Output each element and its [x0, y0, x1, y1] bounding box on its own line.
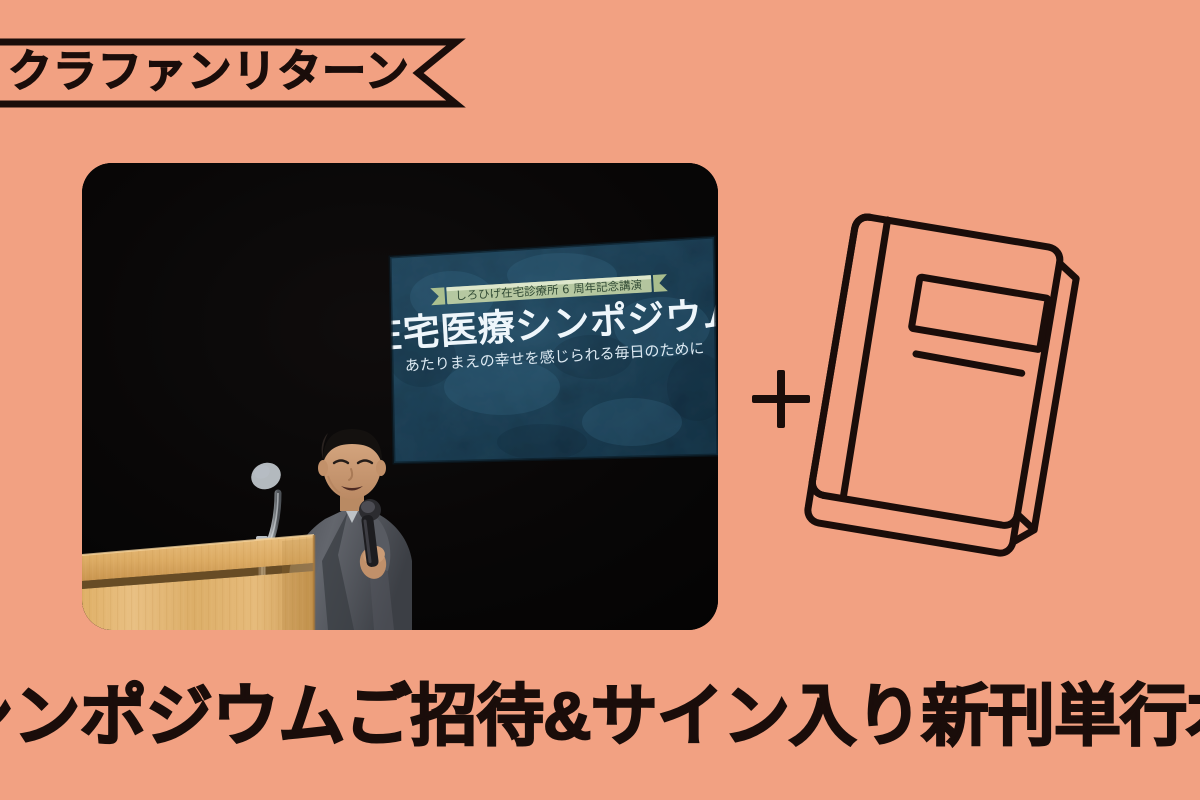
- book-icon: [800, 190, 1100, 590]
- headline-text: シンポジウムご招待&サイン入り新刊単行本: [0, 660, 1200, 760]
- ribbon-banner: クラファンリターン: [0, 38, 468, 108]
- ribbon-banner-label: クラファンリターン: [8, 38, 410, 108]
- projection-screen: しろひげ在宅診療所 6 周年記念講演 在宅医療シンポジウム あたりまえの幸せを感…: [363, 237, 718, 463]
- book-icon-shape: [800, 190, 1100, 590]
- symposium-photo-scene: しろひげ在宅診療所 6 周年記念講演 在宅医療シンポジウム あたりまえの幸せを感…: [82, 163, 718, 630]
- plus-icon-vertical-bar: [777, 370, 785, 428]
- return-reward-poster: クラファンリターン: [0, 0, 1200, 800]
- symposium-photo: しろひげ在宅診療所 6 周年記念講演 在宅医療シンポジウム あたりまえの幸せを感…: [82, 163, 718, 630]
